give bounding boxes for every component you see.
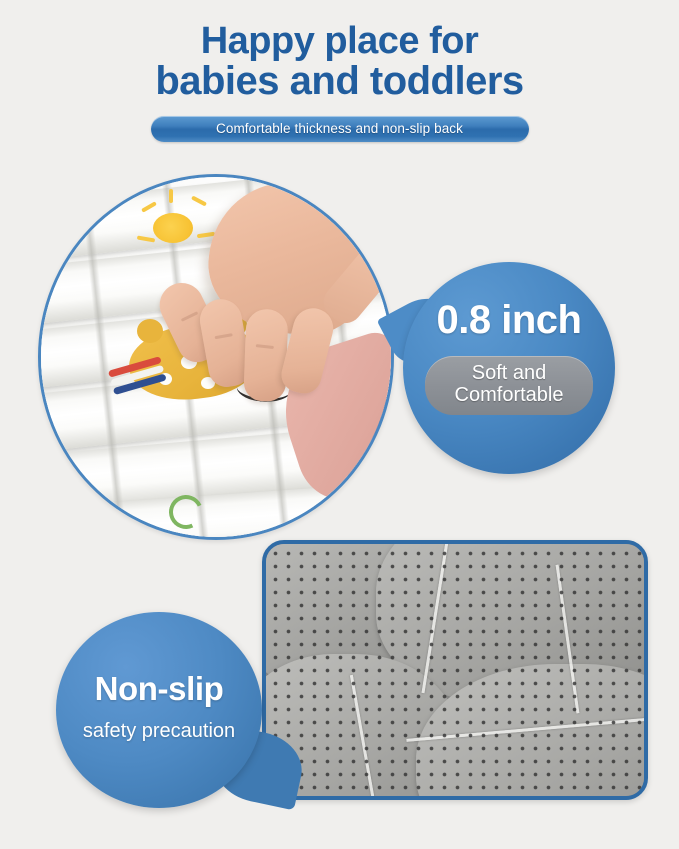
nonslip-subtitle: safety precaution <box>56 720 262 743</box>
product-infographic: Happy place for babies and toddlers Comf… <box>0 0 679 849</box>
mattress-thickness-photo <box>38 174 394 540</box>
callout-bubble <box>56 612 262 808</box>
thickness-value: 0.8 inch <box>403 298 615 343</box>
pressing-hand <box>149 174 394 435</box>
comfort-badge-line-1: Soft and <box>425 362 593 384</box>
page-title-line-1: Happy place for <box>0 22 679 61</box>
page-title-line-2: babies and toddlers <box>0 61 679 102</box>
comfort-badge: Soft and Comfortable <box>425 356 593 415</box>
nonslip-callout: Non-slip safety precaution <box>56 612 262 808</box>
finger <box>243 309 288 402</box>
nonslip-title: Non-slip <box>56 670 262 708</box>
silicone-dot-texture <box>262 540 648 800</box>
nonslip-backing-photo <box>262 540 648 800</box>
nonslip-surface <box>266 544 644 796</box>
header: Happy place for babies and toddlers Comf… <box>0 22 679 142</box>
subtitle-text: Comfortable thickness and non-slip back <box>216 121 463 136</box>
comfort-badge-line-2: Comfortable <box>425 384 593 406</box>
subtitle-banner: Comfortable thickness and non-slip back <box>151 116 529 142</box>
mattress-surface <box>41 177 391 537</box>
thickness-callout: 0.8 inch Soft and Comfortable <box>403 262 615 474</box>
